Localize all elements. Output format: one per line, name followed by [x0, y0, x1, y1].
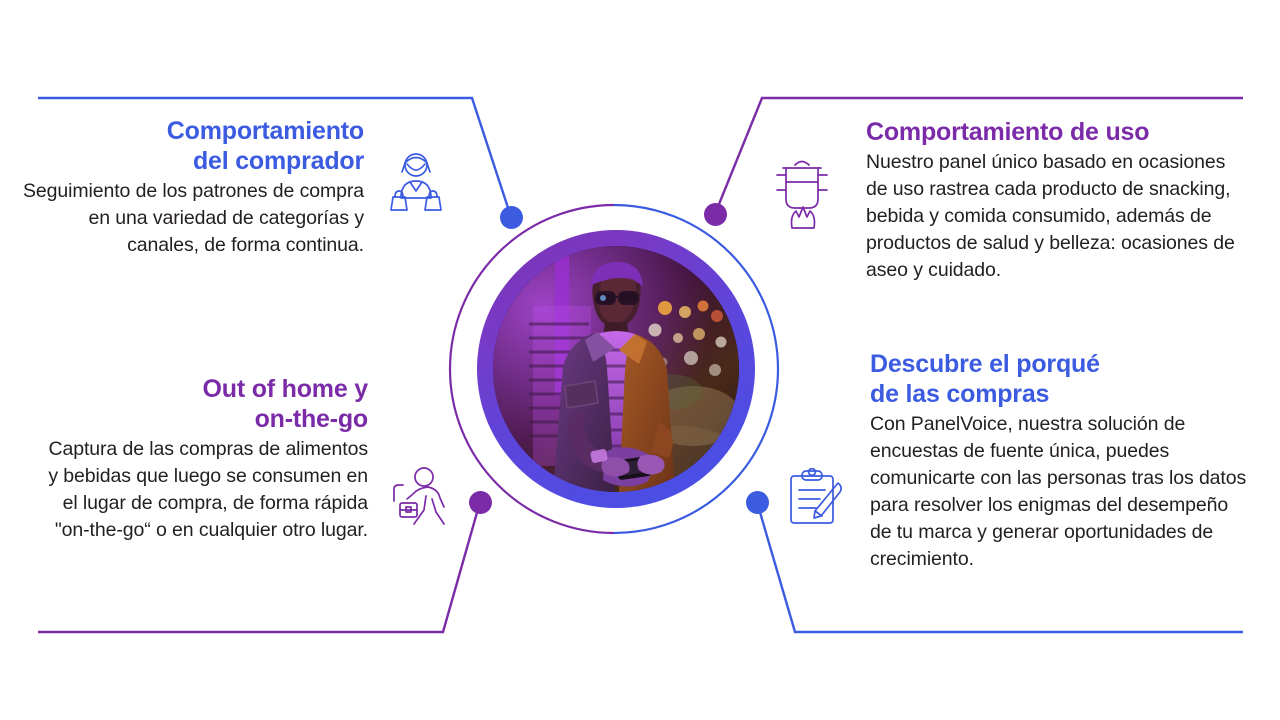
quadrant-out-of-home: Out of home y on-the-go Captura de las c…: [40, 374, 368, 544]
title-line-2: on-the-go: [255, 405, 368, 433]
title-line-1: Descubre el porqué: [870, 350, 1100, 378]
quadrant-body-why-of-purchases: Con PanelVoice, nuestra solución de encu…: [870, 411, 1250, 573]
node-dot-bottom-left: [469, 491, 492, 514]
clipboard-with-pencil-icon: [786, 468, 848, 530]
quadrant-body-shopper-behaviour: Seguimiento de los patrones de compra en…: [22, 178, 364, 259]
quadrant-body-usage-behaviour: Nuestro panel único basado en ocasiones …: [866, 149, 1248, 284]
quadrant-title-usage-behaviour: Comportamiento de uso: [866, 117, 1248, 147]
title-line-1: Comportamiento: [167, 117, 364, 145]
quadrant-shopper-behaviour: Comportamiento del comprador Seguimiento…: [22, 116, 364, 259]
quadrant-usage-behaviour: Comportamiento de uso Nuestro panel únic…: [866, 117, 1248, 284]
infographic-slide: Comportamiento del comprador Seguimiento…: [0, 0, 1280, 720]
quadrant-title-shopper-behaviour: Comportamiento del comprador: [22, 116, 364, 176]
node-dot-bottom-right: [746, 491, 769, 514]
shopper-with-bags-icon: [385, 152, 447, 226]
title-line-2: del comprador: [193, 147, 364, 175]
quadrant-why-of-purchases: Descubre el porqué de las compras Con Pa…: [870, 349, 1250, 573]
quadrant-body-out-of-home: Captura de las compras de alimentos y be…: [40, 436, 368, 544]
node-dot-top-right: [704, 203, 727, 226]
cooking-pot-icon: [770, 152, 834, 232]
title-line-2: de las compras: [870, 380, 1049, 408]
center-photo: [493, 246, 739, 492]
quadrant-title-why-of-purchases: Descubre el porqué de las compras: [870, 349, 1250, 409]
quadrant-title-out-of-home: Out of home y on-the-go: [40, 374, 368, 434]
title-line-1: Out of home y: [203, 375, 368, 403]
node-dot-top-left: [500, 206, 523, 229]
walking-person-with-bag-icon: [386, 466, 450, 530]
central-graphic: [404, 194, 824, 546]
